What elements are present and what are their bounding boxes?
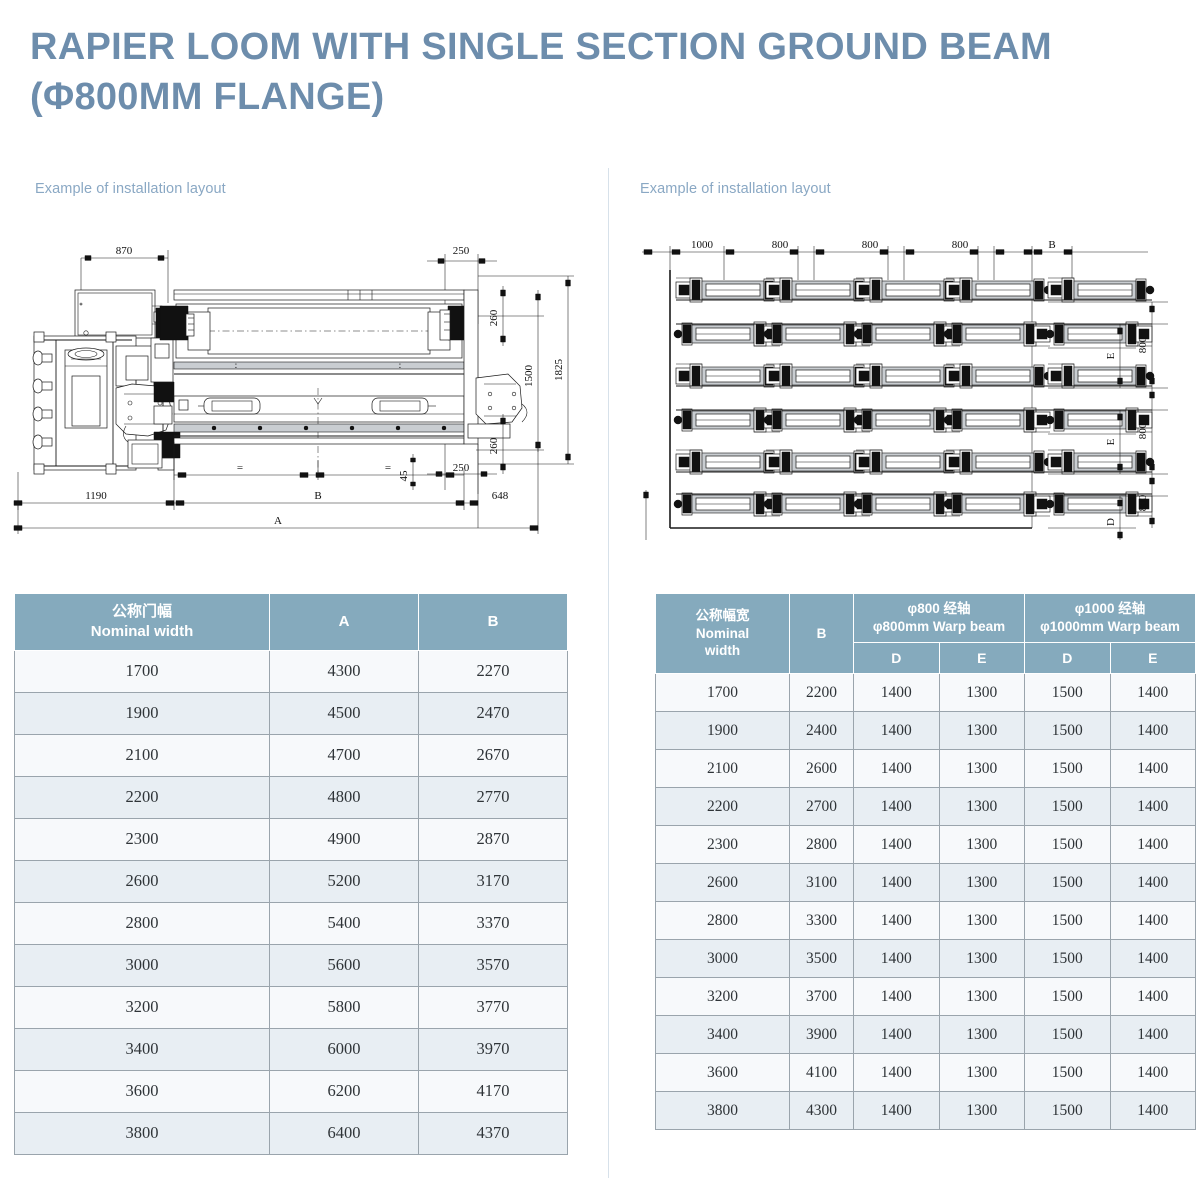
table-row: 230028001400130015001400 [656, 826, 1196, 864]
lower-sley-mechanism [174, 388, 464, 478]
table-row: 360062004170 [15, 1070, 568, 1112]
cell-e-1000: 1400 [1110, 1092, 1196, 1130]
factory-layout-drawing: 1000 800 800 800 B [628, 228, 1196, 558]
dimension-45: 45 [398, 454, 415, 490]
svg-text:800: 800 [1137, 422, 1149, 439]
cell-d-800: 1400 [854, 788, 940, 826]
cell-a: 5400 [270, 902, 419, 944]
cell-a: 6200 [270, 1070, 419, 1112]
cell-nominal: 2100 [656, 750, 790, 788]
cell-nominal: 1700 [15, 650, 270, 692]
cell-d-800: 1400 [854, 940, 940, 978]
cell-b: 3500 [790, 940, 854, 978]
cell-nominal: 2800 [656, 902, 790, 940]
cell-d-800: 1400 [854, 1092, 940, 1130]
cell-e-800: 1300 [939, 864, 1025, 902]
table-row: 340039001400130015001400 [656, 1016, 1196, 1054]
table-row: 300035001400130015001400 [656, 940, 1196, 978]
header-nominal-width-en-line2: width [705, 643, 740, 658]
cell-a: 5800 [270, 986, 419, 1028]
svg-text:B: B [314, 490, 321, 502]
cell-b: 4170 [419, 1070, 568, 1112]
cell-e-800: 1300 [939, 978, 1025, 1016]
cell-b: 2470 [419, 692, 568, 734]
table-row: 340060003970 [15, 1028, 568, 1070]
svg-text:1500: 1500 [523, 365, 535, 388]
cell-b: 3100 [790, 864, 854, 902]
loom-row [676, 278, 1154, 302]
cell-b: 2600 [790, 750, 854, 788]
header-nominal-width-en-line1: Nominal [696, 626, 749, 641]
cell-e-800: 1300 [939, 674, 1025, 712]
header-nominal-width: 公称幅宽 Nominal width [656, 594, 790, 674]
cell-d-1000: 1500 [1025, 864, 1111, 902]
cell-e-1000: 1400 [1110, 750, 1196, 788]
table-row: 280033001400130015001400 [656, 902, 1196, 940]
header-group-1000-cn: φ1000 经轴 [1075, 601, 1145, 616]
svg-text:D: D [1105, 518, 1117, 526]
cell-d-1000: 1500 [1025, 826, 1111, 864]
cell-e-800: 1300 [939, 940, 1025, 978]
mid-rails: : : [174, 361, 464, 374]
svg-text:=: = [385, 462, 391, 474]
cell-e-1000: 1400 [1110, 902, 1196, 940]
cell-nominal: 2600 [656, 864, 790, 902]
loom-row [676, 364, 1154, 388]
cell-nominal: 3000 [15, 944, 270, 986]
table-row: 260031001400130015001400 [656, 864, 1196, 902]
cell-d-1000: 1500 [1025, 750, 1111, 788]
cell-b: 2400 [790, 712, 854, 750]
cell-b: 2770 [419, 776, 568, 818]
cell-nominal: 2600 [15, 860, 270, 902]
header-b: B [790, 594, 854, 674]
cell-b: 3970 [419, 1028, 568, 1070]
cell-nominal: 3600 [656, 1054, 790, 1092]
cell-e-800: 1300 [939, 1016, 1025, 1054]
svg-text:E: E [1105, 438, 1117, 445]
table-row: 320037001400130015001400 [656, 978, 1196, 1016]
cell-d-1000: 1500 [1025, 1016, 1111, 1054]
svg-text:A: A [274, 515, 282, 527]
table-row: 170022001400130015001400 [656, 674, 1196, 712]
header-group-warp-beam-800: φ800 经轴 φ800mm Warp beam [854, 594, 1025, 643]
cell-e-800: 1300 [939, 788, 1025, 826]
dimension-250-lower: 250 [427, 444, 497, 494]
svg-text:1190: 1190 [85, 490, 107, 502]
header-nominal-width: 公称门幅 Nominal width [15, 594, 270, 651]
cell-b: 4300 [790, 1092, 854, 1130]
base-rail [174, 424, 464, 444]
header-e-1000: E [1110, 642, 1196, 673]
page-root: RAPIER LOOM WITH SINGLE SECTION GROUND B… [0, 0, 1200, 1200]
cell-e-800: 1300 [939, 1092, 1025, 1130]
svg-text:=: = [237, 462, 243, 474]
table-row: 380064004370 [15, 1112, 568, 1154]
header-group-warp-beam-1000: φ1000 经轴 φ1000mm Warp beam [1025, 594, 1196, 643]
header-group-800-en: φ800mm Warp beam [873, 619, 1005, 634]
cell-d-800: 1400 [854, 750, 940, 788]
header-nominal-width-cn: 公称门幅 [112, 603, 172, 620]
header-d-800: D [854, 642, 940, 673]
cell-a: 5600 [270, 944, 419, 986]
cell-d-800: 1400 [854, 826, 940, 864]
cell-d-800: 1400 [854, 864, 940, 902]
cell-nominal: 1700 [656, 674, 790, 712]
cell-nominal: 2800 [15, 902, 270, 944]
cell-b: 2670 [419, 734, 568, 776]
cell-a: 5200 [270, 860, 419, 902]
svg-text:800: 800 [862, 239, 879, 251]
svg-text:250: 250 [453, 462, 470, 474]
cell-b: 2870 [419, 818, 568, 860]
header-a: A [270, 594, 419, 651]
control-cabinet [75, 290, 165, 338]
cell-nominal: 3800 [656, 1092, 790, 1130]
cell-b: 3300 [790, 902, 854, 940]
cell-d-800: 1400 [854, 902, 940, 940]
warp-beam [174, 290, 464, 358]
cell-e-800: 1300 [939, 902, 1025, 940]
cell-e-1000: 1400 [1110, 978, 1196, 1016]
cell-e-1000: 1400 [1110, 1016, 1196, 1054]
cell-a: 4900 [270, 818, 419, 860]
cell-d-1000: 1500 [1025, 978, 1111, 1016]
cell-nominal: 3200 [15, 986, 270, 1028]
cell-b: 4370 [419, 1112, 568, 1154]
table-row: 210047002670 [15, 734, 568, 776]
svg-text:800: 800 [952, 239, 969, 251]
cell-d-1000: 1500 [1025, 1092, 1111, 1130]
header-group-1000-en: φ1000mm Warp beam [1040, 619, 1180, 634]
cell-e-1000: 1400 [1110, 826, 1196, 864]
nominal-width-dimensions-table: 公称门幅 Nominal width A B 170043002270 1900… [14, 593, 568, 1155]
svg-text:B: B [1048, 239, 1055, 251]
svg-text:870: 870 [116, 245, 133, 257]
page-title: RAPIER LOOM WITH SINGLE SECTION GROUND B… [30, 22, 1180, 122]
svg-text:260: 260 [488, 309, 500, 326]
table-row: 170043002270 [15, 650, 568, 692]
cell-d-1000: 1500 [1025, 712, 1111, 750]
header-b: B [419, 594, 568, 651]
cell-d-800: 1400 [854, 712, 940, 750]
table-row: 220048002770 [15, 776, 568, 818]
cell-d-800: 1400 [854, 1054, 940, 1092]
loom-grid [674, 278, 1154, 516]
cell-e-1000: 1400 [1110, 712, 1196, 750]
cell-e-1000: 1400 [1110, 864, 1196, 902]
cell-d-1000: 1500 [1025, 674, 1111, 712]
cell-a: 6400 [270, 1112, 419, 1154]
cell-b: 3700 [790, 978, 854, 1016]
table-header-row-group: 公称幅宽 Nominal width B φ800 经轴 φ800mm Warp… [656, 594, 1196, 643]
table-body: 170022001400130015001400 190024001400130… [656, 674, 1196, 1130]
cell-nominal: 2100 [15, 734, 270, 776]
svg-text:45: 45 [398, 470, 410, 482]
table-row: 380043001400130015001400 [656, 1092, 1196, 1130]
loom-row [674, 322, 1152, 346]
cell-d-800: 1400 [854, 978, 940, 1016]
cell-a: 4700 [270, 734, 419, 776]
cell-d-1000: 1500 [1025, 940, 1111, 978]
cell-b: 3570 [419, 944, 568, 986]
cell-b: 2200 [790, 674, 854, 712]
loom-row [674, 408, 1152, 432]
svg-text:250: 250 [453, 245, 470, 257]
cell-e-800: 1300 [939, 750, 1025, 788]
cell-a: 4500 [270, 692, 419, 734]
table-row: 300056003570 [15, 944, 568, 986]
equal-marks-row: = = [174, 442, 464, 480]
loom-row [674, 492, 1152, 516]
cell-d-800: 1400 [854, 674, 940, 712]
svg-text:1825: 1825 [553, 359, 565, 382]
svg-text:260: 260 [488, 437, 500, 454]
warp-beam-dimensions-table: 公称幅宽 Nominal width B φ800 经轴 φ800mm Warp… [655, 593, 1196, 1130]
svg-text::: : [235, 361, 238, 371]
header-nominal-width-cn: 公称幅宽 [696, 608, 750, 623]
cell-e-800: 1300 [939, 1054, 1025, 1092]
cell-a: 6000 [270, 1028, 419, 1070]
svg-text:800: 800 [1137, 494, 1149, 511]
table-row: 210026001400130015001400 [656, 750, 1196, 788]
table-row: 220027001400130015001400 [656, 788, 1196, 826]
header-e-800: E [939, 642, 1025, 673]
table-row: 190045002470 [15, 692, 568, 734]
svg-text:800: 800 [1137, 336, 1149, 353]
table-row: 280054003370 [15, 902, 568, 944]
column-divider [608, 168, 609, 1178]
cell-e-1000: 1400 [1110, 674, 1196, 712]
table-body: 170043002270 190045002470 210047002670 2… [15, 650, 568, 1154]
cell-e-1000: 1400 [1110, 788, 1196, 826]
svg-text::: : [399, 361, 402, 371]
cell-d-1000: 1500 [1025, 788, 1111, 826]
table-row: 260052003170 [15, 860, 568, 902]
cell-nominal: 1900 [15, 692, 270, 734]
cell-b: 3900 [790, 1016, 854, 1054]
cell-a: 4800 [270, 776, 419, 818]
cell-b: 4100 [790, 1054, 854, 1092]
left-drawing-caption: Example of installation layout [35, 181, 226, 197]
right-drawing-caption: Example of installation layout [640, 181, 831, 197]
cell-e-1000: 1400 [1110, 1054, 1196, 1092]
cell-nominal: 1900 [656, 712, 790, 750]
cell-nominal: 2300 [656, 826, 790, 864]
cell-d-800: 1400 [854, 1016, 940, 1054]
cell-b: 3770 [419, 986, 568, 1028]
cell-nominal: 3400 [656, 1016, 790, 1054]
svg-text:648: 648 [492, 490, 509, 502]
cell-d-1000: 1500 [1025, 902, 1111, 940]
table-header-row: 公称门幅 Nominal width A B [15, 594, 568, 651]
svg-text:E: E [1105, 352, 1117, 359]
table-row: 360041001400130015001400 [656, 1054, 1196, 1092]
table-row: 320058003770 [15, 986, 568, 1028]
cell-a: 4300 [270, 650, 419, 692]
cell-e-1000: 1400 [1110, 940, 1196, 978]
cell-b: 3170 [419, 860, 568, 902]
header-group-800-cn: φ800 经轴 [908, 601, 971, 616]
cell-b: 2800 [790, 826, 854, 864]
machine-elevation-drawing: 870 250 [8, 228, 600, 558]
svg-text:800: 800 [772, 239, 789, 251]
cell-nominal: 2200 [656, 788, 790, 826]
cell-d-1000: 1500 [1025, 1054, 1111, 1092]
cell-e-800: 1300 [939, 826, 1025, 864]
header-d-1000: D [1025, 642, 1111, 673]
cell-nominal: 3800 [15, 1112, 270, 1154]
cell-e-800: 1300 [939, 712, 1025, 750]
cell-nominal: 2200 [15, 776, 270, 818]
table-row: 190024001400130015001400 [656, 712, 1196, 750]
loom-row [676, 450, 1154, 474]
table-row: 230049002870 [15, 818, 568, 860]
cell-b: 2270 [419, 650, 568, 692]
cell-nominal: 3200 [656, 978, 790, 1016]
cell-nominal: 3000 [656, 940, 790, 978]
svg-text:1000: 1000 [691, 239, 714, 251]
cell-nominal: 2300 [15, 818, 270, 860]
cell-nominal: 3400 [15, 1028, 270, 1070]
cell-b: 3370 [419, 902, 568, 944]
cell-nominal: 3600 [15, 1070, 270, 1112]
cell-b: 2700 [790, 788, 854, 826]
header-nominal-width-en: Nominal width [91, 623, 194, 640]
